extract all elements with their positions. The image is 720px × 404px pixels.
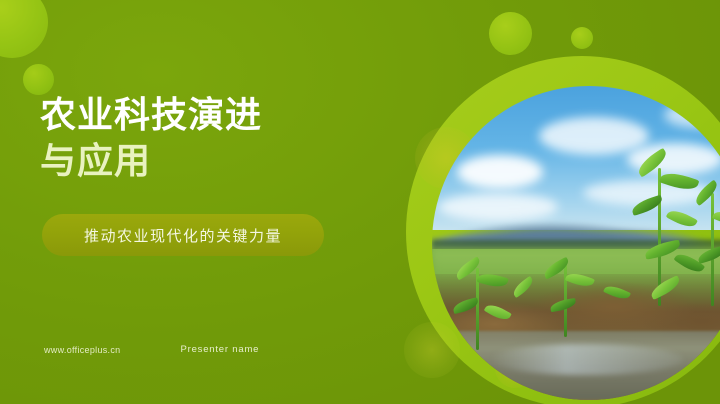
photo-cloud — [457, 155, 543, 189]
footer-presenter-name: Presenter name — [180, 344, 259, 355]
subtitle-text: 推动农业现代化的关键力量 — [84, 225, 282, 246]
footer-site-url[interactable]: www.officeplus.cn — [44, 345, 120, 355]
photo-water-sheen — [489, 344, 684, 375]
footer: www.officeplus.cn Presenter name — [44, 344, 259, 355]
subtitle-badge: 推动农业现代化的关键力量 — [42, 214, 324, 256]
title-line-2: 与应用 — [40, 138, 400, 184]
title-line-1: 农业科技演进 — [40, 92, 400, 138]
title-slide: 农业科技演进 与应用 推动农业现代化的关键力量 www.officeplus.c… — [0, 0, 720, 404]
agriculture-field-photo — [432, 86, 720, 400]
photo-cloud — [664, 102, 720, 128]
photo-inner — [432, 86, 720, 400]
page-title: 农业科技演进 与应用 — [40, 92, 400, 184]
